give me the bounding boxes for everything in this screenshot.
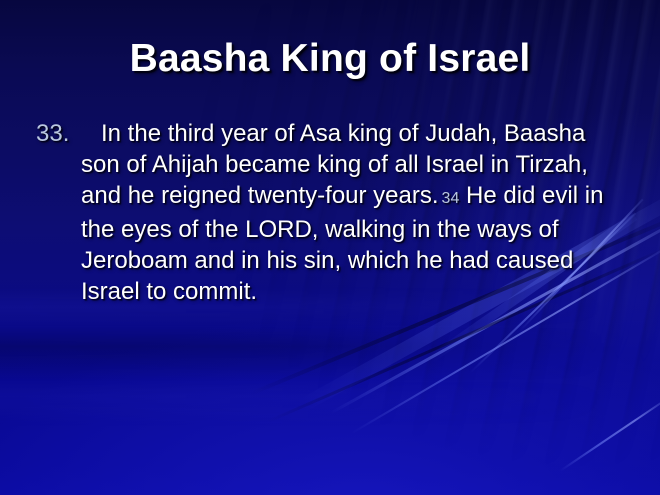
verse-number-34: 34 — [439, 190, 460, 207]
presentation-slide: Baasha King of Israel 33.In the third ye… — [0, 0, 660, 495]
scripture-paragraph: 33.In the third year of Asa king of Juda… — [36, 118, 630, 307]
slide-body: 33.In the third year of Asa king of Juda… — [36, 118, 630, 307]
slide-title: Baasha King of Israel — [0, 36, 660, 82]
verse-number-33: 33. — [36, 118, 69, 149]
